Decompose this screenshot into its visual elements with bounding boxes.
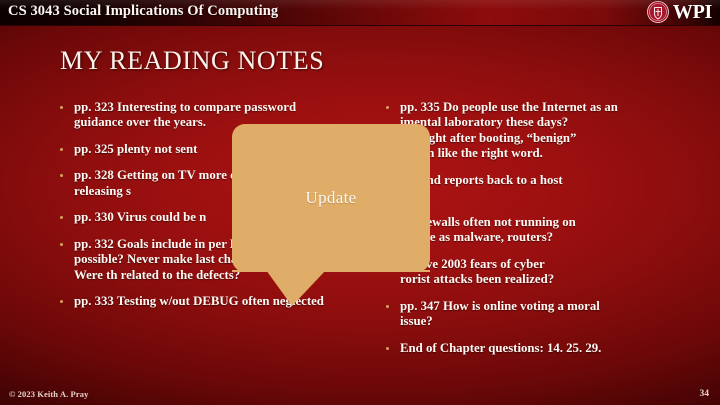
list-item: pp. 335 Do people use the Internet as an… [382,100,702,162]
list-item-line: pp. 335 Do people use the Internet as an [400,100,618,114]
update-callout[interactable]: Update [232,124,430,272]
slide-number: 34 [700,389,710,399]
wpi-wordmark: WPI [673,1,712,23]
list-item: 3 Firewalls often not running on achine … [382,215,702,246]
wpi-logo: WPI [647,1,712,23]
callout-label: Update [232,124,430,272]
list-item-line: issue? [400,314,433,328]
presentation-slide: CS 3043 Social Implications Of Computing… [0,0,720,405]
footer-copyright: © 2023 Keith A. Pray [9,389,88,399]
list-item-line: rorist attacks been realized? [400,272,554,286]
list-item-line: End of Chapter questions: 14. 25. 29. [400,341,601,355]
list-item: pp. 333 Testing w/out DEBUG often neglec… [56,294,346,309]
wpi-seal-icon [647,1,669,23]
list-item-line: pp. 347 How is online voting a moral [400,299,600,313]
right-bullet-list: pp. 335 Do people use the Internet as an… [382,100,702,356]
list-item: pp. 347 How is online voting a moral iss… [382,299,702,330]
list-item: 7 “send reports back to a host ter”? [382,173,702,204]
list-item: 9 Have 2003 fears of cyber rorist attack… [382,257,702,288]
list-item: End of Chapter questions: 14. 25. 29. [382,341,702,356]
course-title: CS 3043 Social Implications Of Computing [8,3,278,20]
page-title: MY READING NOTES [60,46,324,76]
